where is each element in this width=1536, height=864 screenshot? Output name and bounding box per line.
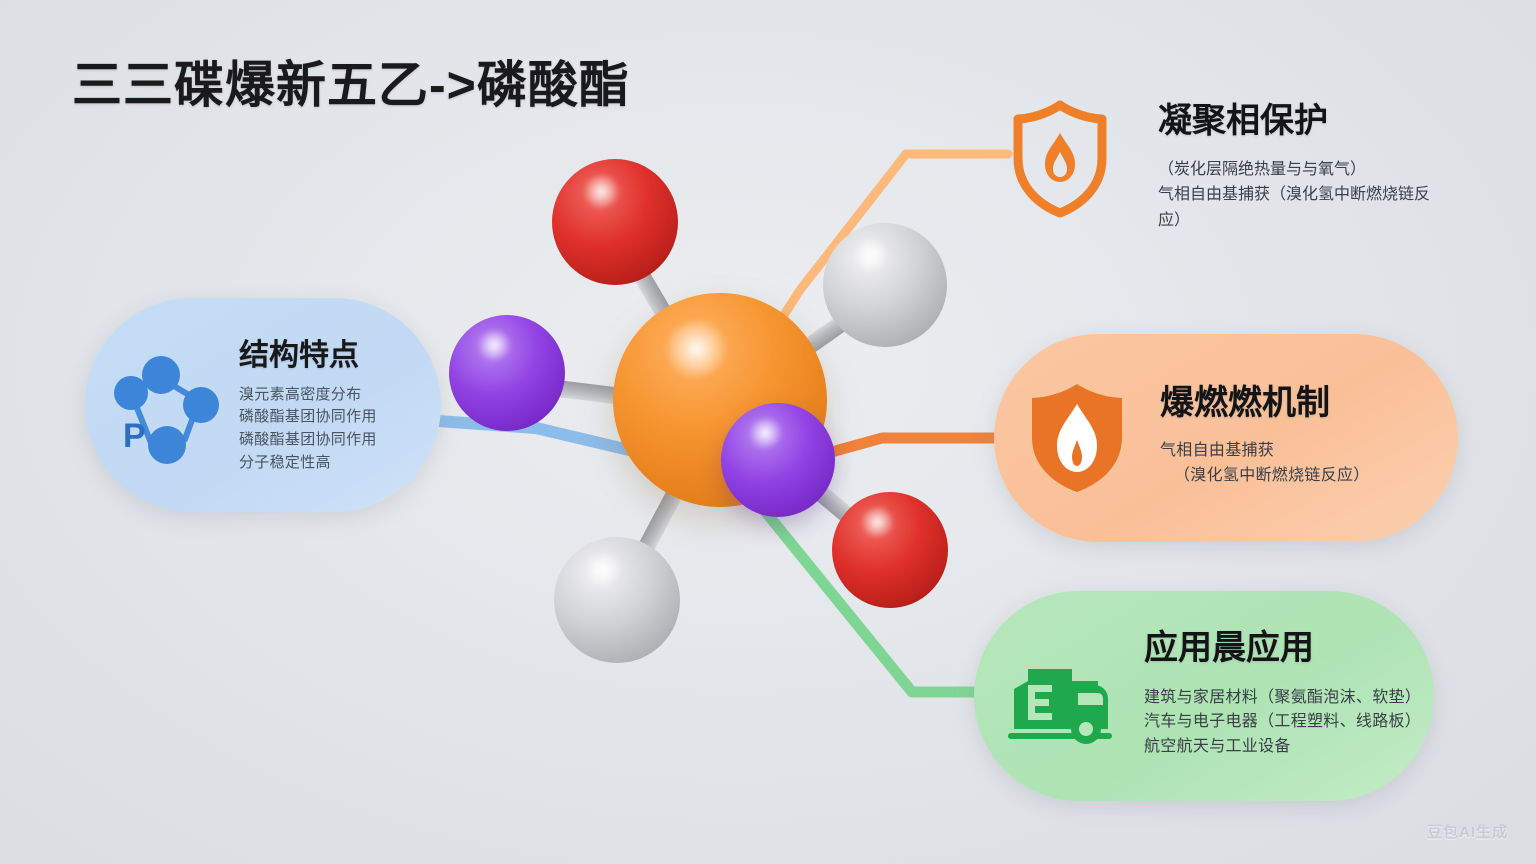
truck-building-icon [1002, 655, 1122, 747]
card-application-line: 汽车与电子电器（工程塑料、线路板） [1144, 710, 1421, 734]
infographic-canvas: 三三碟爆新五乙->磷酸酯 [0, 0, 1536, 864]
block-protection[interactable]: 凝聚相保护 （炭化层隔绝热量与与氧气） 气相自由基捕获（溴化氢中断燃烧链反 应） [1012, 100, 1430, 233]
block-protection-line: 应） [1158, 208, 1430, 233]
card-application-lines: 建筑与家居材料（聚氨酯泡沫、软垫） 汽车与电子电器（工程塑料、线路板） 航空航天… [1144, 686, 1421, 759]
card-structure-lines: 溴元素高密度分布 磷酸酯基团协同作用 磷酸酯基团协同作用 分子稳定性高 [239, 384, 377, 475]
atom-red-top [552, 159, 678, 285]
molecule-illustration [430, 150, 1010, 670]
phosphate-icon-label: P [123, 417, 146, 455]
card-mechanism-line: （溴化氢中断燃烧链反应） [1160, 464, 1370, 488]
block-protection-line: 气相自由基捕获（溴化氢中断燃烧链反 [1158, 182, 1430, 207]
card-application-line: 航空航天与工业设备 [1144, 735, 1421, 759]
card-application-line: 建筑与家居材料（聚氨酯泡沫、软垫） [1144, 686, 1421, 710]
page-title: 三三碟爆新五乙->磷酸酯 [72, 58, 630, 113]
block-protection-lines: （炭化层隔绝热量与与氧气） 气相自由基捕获（溴化氢中断燃烧链反 应） [1158, 157, 1430, 233]
atom-purple-upperleft [449, 315, 565, 431]
molecule-phosphate-icon: P [107, 353, 225, 471]
card-structure-line: 溴元素高密度分布 [239, 384, 377, 407]
card-mechanism-line: 气相自由基捕获 [1160, 439, 1370, 463]
watermark: 豆包AI生成 [1427, 821, 1508, 842]
card-structure-line: 磷酸酯基团协同作用 [239, 429, 377, 452]
block-protection-line: （炭化层隔绝热量与与氧气） [1158, 157, 1430, 182]
atom-gray-bottom [554, 537, 680, 663]
card-mechanism[interactable]: 爆燃燃机制 气相自由基捕获 （溴化氢中断燃烧链反应） [994, 334, 1458, 542]
shield-flame-filled-icon [1028, 382, 1126, 494]
atom-purple-right [721, 403, 835, 517]
card-structure-heading: 结构特点 [239, 339, 377, 374]
card-mechanism-lines: 气相自由基捕获 （溴化氢中断燃烧链反应） [1160, 439, 1370, 488]
card-structure-line: 磷酸酯基团协同作用 [239, 406, 377, 429]
atom-gray-upperright [823, 223, 947, 347]
card-application[interactable]: 应用晨应用 建筑与家居材料（聚氨酯泡沫、软垫） 汽车与电子电器（工程塑料、线路板… [974, 591, 1434, 801]
shield-flame-outline-icon [1012, 100, 1108, 218]
block-protection-heading: 凝聚相保护 [1158, 102, 1430, 141]
card-mechanism-heading: 爆燃燃机制 [1160, 384, 1370, 423]
card-application-heading: 应用晨应用 [1144, 629, 1421, 668]
atom-red-lowerright [832, 492, 948, 608]
card-structure-line: 分子稳定性高 [239, 452, 377, 475]
card-structure[interactable]: P 结构特点 溴元素高密度分布 磷酸酯基团协同作用 磷酸酯基团协同作用 分子稳定… [85, 298, 441, 512]
